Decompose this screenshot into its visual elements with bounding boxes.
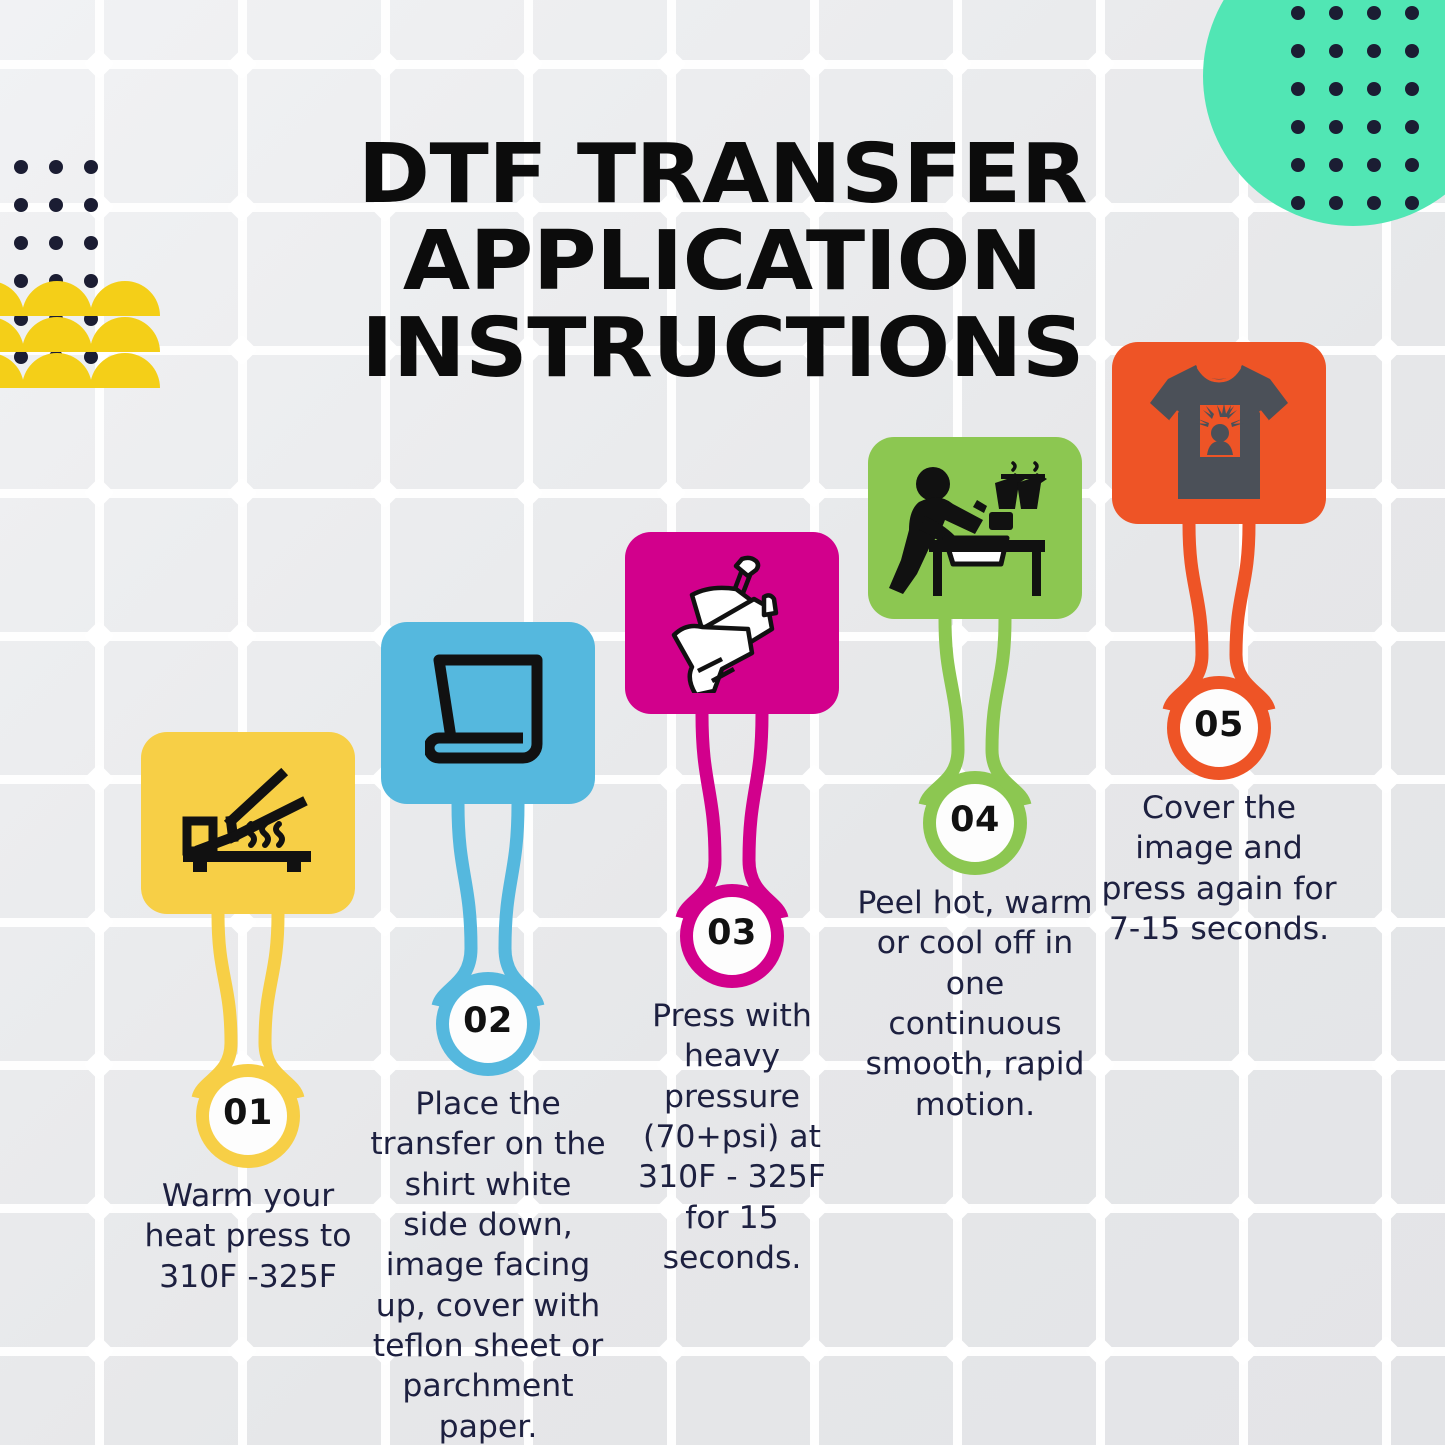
step-02-number: 02 [366,1001,610,1041]
step-05-caption: Cover the image and press again for 7-15… [1097,788,1341,949]
step-04: 04Peel hot, warm or cool off in one cont… [853,437,1097,1125]
step-03-icon-card [625,532,839,714]
step-01-number: 01 [126,1093,370,1133]
steps-container: 01Warm your heat press to 310F -325F02Pl… [0,0,1445,1445]
step-05: 05Cover the image and press again for 7-… [1097,342,1341,949]
peeling-transfer-worker-icon [868,437,1082,619]
step-01-caption: Warm your heat press to 310F -325F [126,1176,370,1297]
step-03-connector: 03 [610,714,854,988]
step-02: 02Place the transfer on the shirt white … [366,622,610,1445]
step-03-number: 03 [610,913,854,953]
printed-tshirt-icon [1112,342,1326,524]
step-01-connector: 01 [126,914,370,1168]
step-03-caption: Press with heavy pressure (70+psi) at 31… [610,996,854,1278]
poster-canvas: DTF TRANSFER APPLICATION INSTRUCTIONS 01… [0,0,1445,1445]
step-05-number: 05 [1097,705,1341,745]
step-04-icon-card [868,437,1082,619]
step-02-connector: 02 [366,804,610,1076]
heat-press-open-icon [141,732,355,914]
step-02-caption: Place the transfer on the shirt white si… [366,1084,610,1445]
step-03: 03Press with heavy pressure (70+psi) at … [610,532,854,1278]
step-01: 01Warm your heat press to 310F -325F [126,732,370,1297]
step-04-caption: Peel hot, warm or cool off in one contin… [853,883,1097,1125]
step-04-connector: 04 [853,619,1097,875]
step-05-connector: 05 [1097,524,1341,780]
heat-press-machine-icon [625,532,839,714]
transfer-sheet-icon [381,622,595,804]
step-05-icon-card [1112,342,1326,524]
step-04-number: 04 [853,800,1097,840]
step-01-icon-card [141,732,355,914]
step-02-icon-card [381,622,595,804]
